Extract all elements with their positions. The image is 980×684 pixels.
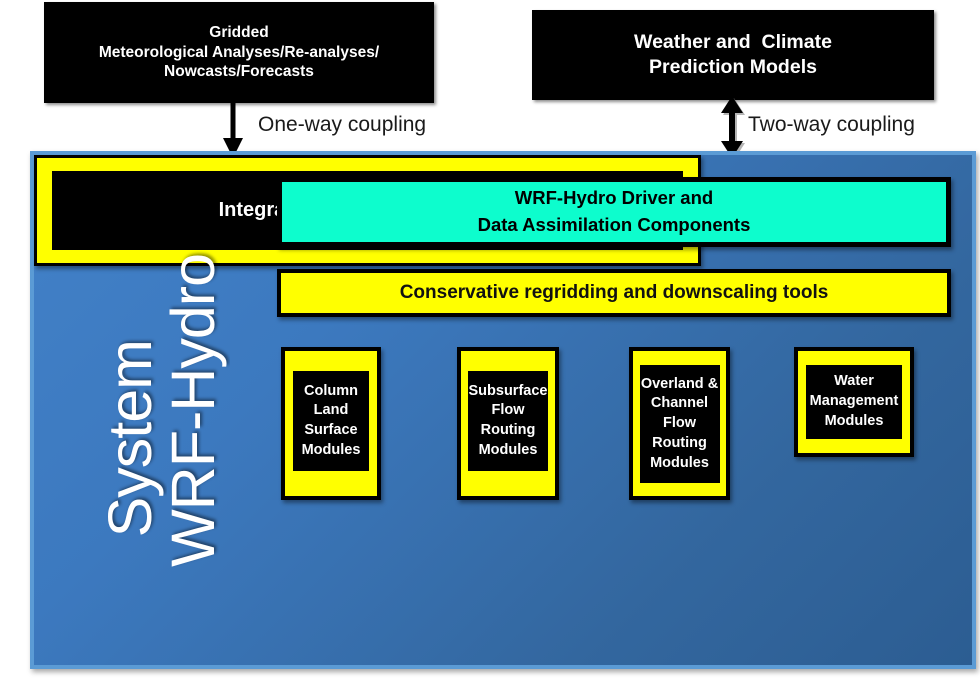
module-card-label: Water Management Modules	[806, 365, 902, 439]
module-line: Modules	[650, 454, 709, 474]
module-card-label: Overland & Channel Flow Routing Modules	[640, 365, 720, 483]
source-line: Gridded	[99, 23, 379, 43]
system-title-line-1: WRF-Hydro	[163, 254, 224, 567]
diagram-canvas: Gridded Meteorological Analyses/Re-analy…	[0, 0, 980, 684]
module-card-water-management: Water Management Modules	[794, 347, 914, 457]
source-line: Prediction Models	[634, 55, 832, 80]
module-card-label: Subsurface Flow Routing Modules	[468, 371, 548, 471]
driver-and-data-assimilation-box: WRF-Hydro Driver and Data Assimilation C…	[277, 177, 951, 247]
module-line: Modules	[302, 441, 361, 461]
source-line: Nowcasts/Forecasts	[99, 62, 379, 82]
module-line: Land	[314, 401, 349, 421]
system-title-line-2: System	[100, 340, 161, 537]
two-way-coupling-label: Two-way coupling	[748, 113, 915, 137]
module-line: Column	[304, 382, 358, 402]
module-line: Surface	[304, 421, 357, 441]
source-line: Weather and Climate	[634, 30, 832, 55]
module-line: Modules	[479, 441, 538, 461]
module-card-overland-channel-flow-routing: Overland & Channel Flow Routing Modules	[629, 347, 730, 500]
module-line: Subsurface	[469, 382, 548, 402]
module-line: Management	[810, 392, 899, 412]
source-box-gridded-met: Gridded Meteorological Analyses/Re-analy…	[44, 2, 434, 103]
module-line: Flow	[491, 401, 524, 421]
module-line: Routing	[481, 421, 536, 441]
module-card-column-land-surface: Column Land Surface Modules	[281, 347, 381, 500]
regridding-downscaling-tools-box: Conservative regridding and downscaling …	[277, 269, 951, 317]
wrf-hydro-system-panel: WRF-Hydro System WRF-Hydro Driver and Da…	[30, 151, 976, 669]
source-line: Meteorological Analyses/Re-analyses/	[99, 43, 379, 63]
driver-line-1: WRF-Hydro Driver and	[515, 187, 713, 208]
module-line: Flow	[663, 414, 696, 434]
driver-line-2: Data Assimilation Components	[478, 214, 751, 235]
module-line: Water	[834, 372, 874, 392]
module-line: Channel	[651, 394, 708, 414]
module-line: Overland &	[641, 375, 718, 395]
source-box-weather-climate: Weather and Climate Prediction Models	[532, 10, 934, 100]
one-way-coupling-label: One-way coupling	[258, 113, 426, 137]
module-card-subsurface-flow-routing: Subsurface Flow Routing Modules	[457, 347, 559, 500]
module-line: Modules	[825, 412, 884, 432]
module-line: Routing	[652, 434, 707, 454]
module-card-label: Column Land Surface Modules	[293, 371, 369, 471]
